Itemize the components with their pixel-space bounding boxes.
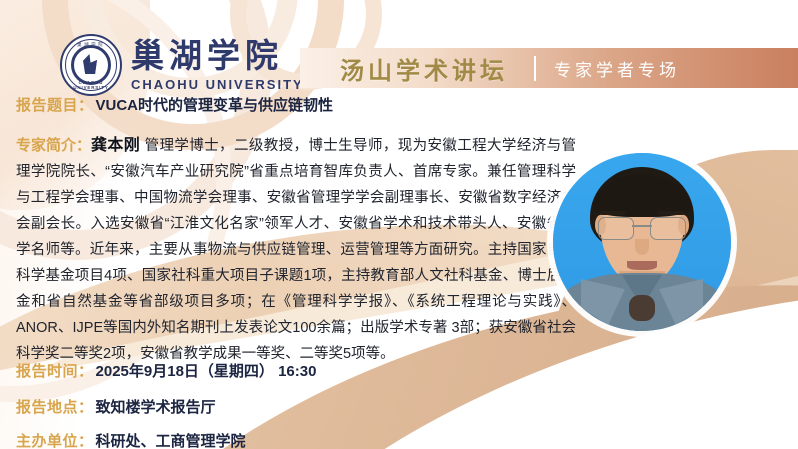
portrait-mouth	[627, 261, 657, 270]
speaker-name: 龚本刚	[91, 137, 140, 154]
poster-content: 报告题目： VUCA时代的管理变革与供应链韧性 专家简介： 龚本刚 管理学博士，…	[0, 0, 798, 449]
portrait-glasses-bridge	[632, 225, 652, 227]
portrait-nose	[635, 239, 649, 255]
speaker-bio: 管理学博士，二级教授，博士生导师，现为安徽工程大学经济与管理学院院长、“安徽汽车…	[16, 138, 576, 362]
portrait-glasses	[596, 217, 688, 239]
topic-row: 报告题目： VUCA时代的管理变革与供应链韧性	[16, 94, 333, 115]
topic-label: 报告题目：	[16, 94, 94, 115]
portrait-brow-right	[658, 211, 684, 215]
bio-label: 专家简介：	[16, 133, 91, 159]
speaker-portrait: 专家头像	[553, 153, 731, 331]
organizer-value: 科研处、工商管理学院	[96, 430, 246, 449]
time-value: 2025年9月18日（星期四） 16:30	[96, 360, 317, 381]
topic-value: VUCA时代的管理变革与供应链韧性	[96, 94, 334, 115]
portrait-brow-left	[600, 211, 626, 215]
organizer-row: 主办单位： 科研处、工商管理学院	[16, 430, 246, 449]
seminar-poster: 巢湖学院 CHAOHU UNIVERSITY 巢湖学院 CHAOHU UNIVE…	[0, 0, 798, 449]
bio-text: 龚本刚 管理学博士，二级教授，博士生导师，现为安徽工程大学经济与管理学院院长、“…	[16, 133, 576, 367]
time-label: 报告时间：	[16, 360, 94, 381]
organizer-label: 主办单位：	[16, 430, 94, 449]
place-label: 报告地点：	[16, 396, 94, 417]
place-value: 致知楼学术报告厅	[96, 396, 216, 417]
time-row: 报告时间： 2025年9月18日（星期四） 16:30	[16, 360, 316, 381]
bio-row: 专家简介： 龚本刚 管理学博士，二级教授，博士生导师，现为安徽工程大学经济与管理…	[16, 133, 576, 367]
place-row: 报告地点： 致知楼学术报告厅	[16, 396, 216, 417]
portrait-lens-right	[650, 217, 686, 240]
portrait-lens-left	[598, 217, 634, 240]
